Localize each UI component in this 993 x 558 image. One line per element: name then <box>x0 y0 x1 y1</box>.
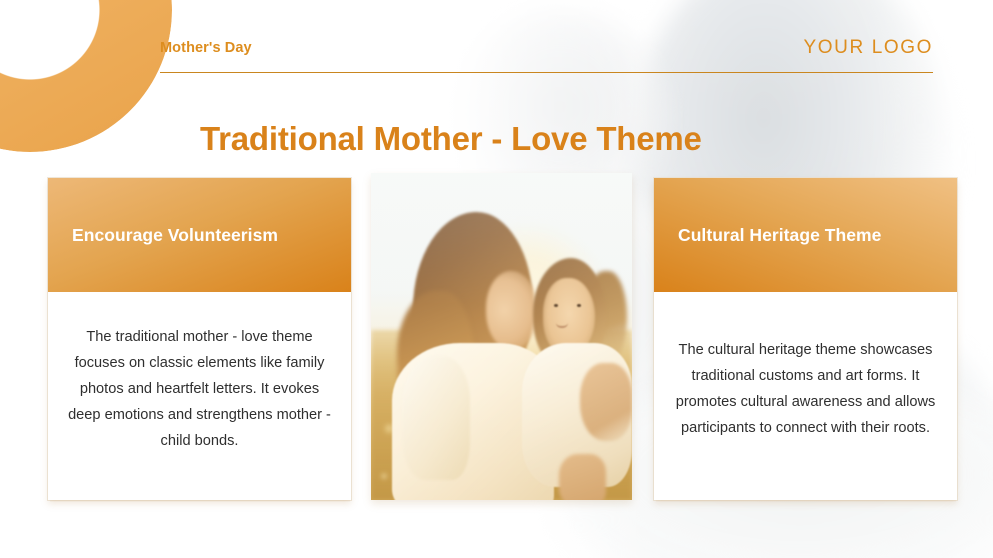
card-header: Encourage Volunteerism <box>48 178 351 292</box>
header-divider <box>160 72 933 73</box>
ring-arc-decoration <box>0 0 172 152</box>
card-cultural-heritage-theme: Cultural Heritage Theme The cultural her… <box>654 178 957 500</box>
page-title: Traditional Mother - Love Theme <box>200 120 702 158</box>
slide-header: Mother's Day YOUR LOGO <box>160 28 933 76</box>
slide: Mother's Day YOUR LOGO Traditional Mothe… <box>0 0 993 558</box>
card-title: Cultural Heritage Theme <box>678 225 881 246</box>
card-description: The cultural heritage theme showcases tr… <box>674 338 937 442</box>
logo-text: YOUR LOGO <box>804 37 933 59</box>
photo-image <box>371 173 632 500</box>
card-title: Encourage Volunteerism <box>72 225 278 246</box>
card-header: Cultural Heritage Theme <box>654 178 957 292</box>
card-description: The traditional mother - love theme focu… <box>68 325 331 455</box>
card-encourage-volunteerism: Encourage Volunteerism The traditional m… <box>48 178 351 500</box>
eyebrow-label: Mother's Day <box>160 40 252 56</box>
card-body: The cultural heritage theme showcases tr… <box>654 292 957 500</box>
photo-warm-overlay <box>371 173 632 500</box>
card-body: The traditional mother - love theme focu… <box>48 292 351 500</box>
